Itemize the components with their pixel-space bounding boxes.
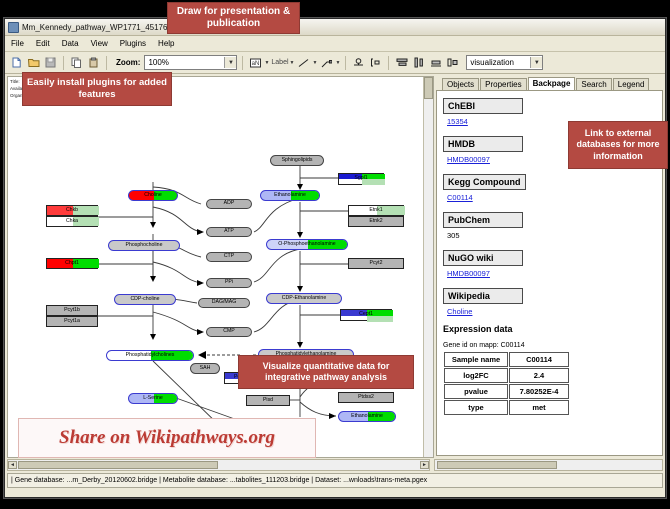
align-icon[interactable] [394, 55, 409, 70]
bracket-icon[interactable] [368, 55, 383, 70]
node-pisd[interactable]: Pisd [246, 395, 290, 406]
visualization-value: visualization [470, 58, 514, 67]
node-label: Etnk1 [369, 208, 382, 213]
node-label: Pcyt1a [64, 319, 80, 324]
share-callout: Share on Wikipathways.org [18, 418, 316, 458]
node-label: PPi [225, 280, 233, 285]
side-panel-tabs: Objects Properties Backpage Search Legen… [436, 76, 663, 90]
node-label: Chkb [66, 208, 78, 213]
menu-item-data[interactable]: Data [60, 38, 81, 49]
expression-data-table: Sample name C00114 log2FC 2.4 pvalue 7.8… [443, 351, 570, 416]
zoom-value: 100% [148, 58, 168, 67]
db-header-pubchem: PubChem [443, 212, 523, 228]
sidepanel-hscroll-thumb[interactable] [437, 461, 557, 469]
line-tool[interactable]: ▼ [296, 55, 317, 70]
node-cept1[interactable]: Cept1 [340, 309, 392, 321]
app-icon [8, 22, 19, 33]
save-disk-icon[interactable] [43, 55, 58, 70]
label-tool[interactable]: Label▼ [271, 59, 294, 66]
node-chka[interactable]: Chka [46, 216, 98, 227]
toolbar-separator-4 [345, 56, 346, 70]
canvas-horizontal-scrollbar[interactable]: ◄ ► [7, 459, 430, 471]
link-callout-text: Link to external databases for more info… [572, 128, 664, 162]
tab-search[interactable]: Search [576, 78, 611, 90]
node-etnk1[interactable]: Etnk1 [348, 205, 404, 216]
node-choline[interactable]: Choline [128, 190, 178, 201]
node-pcyt1a[interactable]: Pcyt1a [46, 316, 98, 327]
node-label: Chpt1 [65, 261, 79, 266]
status-bar: | Gene database: ...m_Derby_20120602.bri… [7, 473, 663, 488]
zoom-label: Zoom: [116, 58, 140, 67]
link-callout: Link to external databases for more info… [568, 121, 668, 169]
share-callout-text: Share on Wikipathways.org [59, 427, 275, 449]
tool-bar: Zoom: 100% ▼ aN ▼ Label▼ ▼ ▼ [5, 52, 665, 74]
branch-line-icon[interactable] [319, 55, 334, 70]
db-header-wikipedia: Wikipedia [443, 288, 523, 304]
node-l-serine-left[interactable]: L-Serine [128, 393, 178, 404]
table-cell-value: met [509, 400, 569, 415]
node-label: CTP [224, 254, 234, 259]
node-label: DAG/MAG [212, 300, 237, 305]
db-header-chebi: ChEBI [443, 98, 523, 114]
node-phosphatidylcholines[interactable]: Phosphatidylcholines [106, 350, 194, 361]
node-sah[interactable]: SAH [190, 363, 220, 374]
menu-item-file[interactable]: File [9, 38, 26, 49]
node-label: Etnk2 [369, 219, 382, 224]
copy-icon[interactable] [69, 55, 84, 70]
label-tool-text: Label [271, 59, 288, 66]
toolbar-separator-2 [106, 56, 107, 70]
table-row: Sample name C00114 [444, 352, 569, 367]
tab-legend[interactable]: Legend [613, 78, 650, 90]
node-label: L-Serine [143, 396, 163, 401]
db-header-nugo-wiki: NuGO wiki [443, 250, 523, 266]
node-cdp-choline[interactable]: CDP-choline [114, 294, 176, 305]
scroll-right-arrow-icon[interactable]: ► [420, 461, 429, 469]
menu-item-plugins[interactable]: Plugins [118, 38, 148, 49]
menu-item-help[interactable]: Help [156, 38, 176, 49]
chevron-down-icon[interactable]: ▼ [290, 60, 295, 66]
node-etnk2[interactable]: Etnk2 [348, 216, 404, 227]
canvas-vertical-scrollbar[interactable] [423, 77, 433, 457]
node-label: Phosphocholine [126, 243, 163, 248]
visualize-callout: Visualize quantitative data for integrat… [238, 355, 414, 389]
node-label: CDP-choline [130, 297, 159, 302]
node-cmp[interactable]: CMP [206, 327, 252, 337]
node-dag-mag[interactable]: DAG/MAG [198, 298, 250, 308]
node-label: Pcyt2 [370, 261, 383, 266]
node-ptdss2[interactable]: Ptdss2 [338, 392, 394, 403]
shape-icon[interactable] [351, 55, 366, 70]
table-cell-key: pvalue [444, 384, 508, 399]
node-label: Choline [144, 193, 162, 198]
node-chkb[interactable]: Chkb [46, 205, 98, 216]
node-ethanolamine-bottom[interactable]: Ethanolamine [338, 411, 396, 422]
table-cell-value: C00114 [509, 352, 569, 367]
db-link-kegg-compound[interactable]: C00114 [447, 193, 656, 202]
menu-bar: File Edit Data View Plugins Help [5, 36, 665, 52]
node-label: Ptdss2 [358, 395, 374, 400]
toolbar-separator-1 [63, 56, 64, 70]
tab-properties[interactable]: Properties [480, 78, 526, 90]
plugins-callout-text: Easily install plugins for added feature… [27, 77, 167, 101]
tab-backpage[interactable]: Backpage [528, 77, 576, 90]
node-cdp-ethanolamine[interactable]: CDP-Ethanolamine [266, 293, 342, 304]
canvas-vscroll-thumb[interactable] [424, 77, 433, 99]
draw-callout-text: Draw for presentation & publication [172, 6, 295, 31]
table-row: pvalue 7.80252E-4 [444, 384, 569, 399]
canvas-hscroll-thumb[interactable] [18, 461, 218, 469]
paste-icon[interactable] [86, 55, 101, 70]
node-pcyt1b[interactable]: Pcyt1b [46, 305, 98, 316]
chevron-down-icon[interactable]: ▼ [224, 57, 236, 68]
node-label: Pcyt1b [64, 308, 80, 313]
table-cell-key: type [444, 400, 508, 415]
node-ctp[interactable]: CTP [206, 252, 252, 262]
node-atp[interactable]: ATP [206, 227, 252, 237]
distribute-icon[interactable] [411, 55, 426, 70]
node-label: Ethanolamine [351, 414, 383, 419]
table-cell-key: log2FC [444, 368, 508, 383]
node-label: Phosphatidylcholines [126, 353, 175, 358]
node-chpt1[interactable]: Chpt1 [46, 258, 98, 269]
node-adp[interactable]: ADP [206, 199, 252, 209]
zoom-combo[interactable]: 100% ▼ [144, 55, 237, 70]
chevron-down-icon[interactable]: ▼ [264, 60, 269, 66]
sidepanel-horizontal-scrollbar[interactable] [434, 459, 663, 471]
node-o-phosphoethanolamine[interactable]: O-Phosphoethanolamine [266, 239, 348, 250]
node-label: CMP [223, 329, 235, 334]
node-sgpl1[interactable]: Sgpl1 [338, 173, 384, 185]
node-ethanolamine[interactable]: Ethanolamine [260, 190, 320, 201]
db-header-kegg-compound: Kegg Compound [443, 174, 526, 190]
expression-data-heading: Expression data [443, 324, 656, 334]
branch-line-tool[interactable]: ▼ [319, 55, 340, 70]
table-row: log2FC 2.4 [444, 368, 569, 383]
open-folder-icon[interactable] [26, 55, 41, 70]
toolbar-separator-5 [388, 56, 389, 70]
db-header-hmdb: HMDB [443, 136, 523, 152]
data-node-tool[interactable]: aN ▼ [248, 55, 269, 70]
stack-icon[interactable] [428, 55, 443, 70]
menu-item-view[interactable]: View [89, 38, 110, 49]
svg-text:aN: aN [252, 61, 260, 67]
node-phosphocholine[interactable]: Phosphocholine [108, 240, 180, 251]
db-value-pubchem: 305 [447, 231, 656, 240]
table-row: type met [444, 400, 569, 415]
node-label: CDP-Ethanolamine [282, 296, 326, 301]
draw-callout: Draw for presentation & publication [167, 2, 300, 34]
node-pcyt2[interactable]: Pcyt2 [348, 258, 404, 269]
data-node-icon[interactable]: aN [248, 55, 263, 70]
node-label: Sgpl1 [354, 176, 367, 181]
new-file-icon[interactable] [9, 55, 24, 70]
node-label: Pisd [263, 398, 273, 403]
title-bar: Mm_Kennedy_pathway_WP1771_45176.gpml [5, 19, 665, 36]
gene-id-on-mapp: Gene id on mapp: C00114 [443, 342, 656, 349]
node-label: ATP [224, 229, 234, 234]
line-icon[interactable] [296, 55, 311, 70]
main-body: Title: Availa Organ [5, 74, 665, 458]
node-label: O-Phosphoethanolamine [278, 242, 335, 247]
db-link-wikipedia[interactable]: Choline [447, 307, 656, 316]
node-ppi[interactable]: PPi [206, 278, 252, 288]
pathway-canvas[interactable]: Title: Availa Organ [7, 76, 434, 458]
visualize-callout-text: Visualize quantitative data for integrat… [243, 361, 409, 384]
node-label: Cept1 [359, 312, 373, 317]
window-title: Mm_Kennedy_pathway_WP1771_45176.gpml [22, 23, 187, 32]
node-sphingolipids[interactable]: Sphingolipids [270, 155, 324, 166]
menu-item-edit[interactable]: Edit [34, 38, 52, 49]
node-label: Ethanolamine [274, 193, 306, 198]
scroll-left-arrow-icon[interactable]: ◄ [8, 461, 17, 469]
toolbar-separator-3 [242, 56, 243, 70]
node-label: Chka [66, 219, 78, 224]
table-cell-value: 2.4 [509, 368, 569, 383]
node-label: Sphingolipids [282, 158, 313, 163]
table-cell-key: Sample name [444, 352, 508, 367]
chevron-down-icon[interactable]: ▼ [335, 60, 340, 66]
tab-objects[interactable]: Objects [442, 78, 479, 90]
node-label: ADP [224, 201, 235, 206]
node-label: SAH [200, 366, 211, 371]
table-cell-value: 7.80252E-4 [509, 384, 569, 399]
chevron-down-icon[interactable]: ▼ [312, 60, 317, 66]
db-link-nugo-wiki[interactable]: HMDB00097 [447, 269, 656, 278]
order-icon[interactable] [445, 55, 460, 70]
visualization-combo[interactable]: visualization ▼ [466, 55, 543, 70]
chevron-down-icon[interactable]: ▼ [530, 57, 542, 68]
status-text: | Gene database: ...m_Derby_20120602.bri… [11, 477, 427, 484]
plugins-callout: Easily install plugins for added feature… [22, 72, 172, 106]
